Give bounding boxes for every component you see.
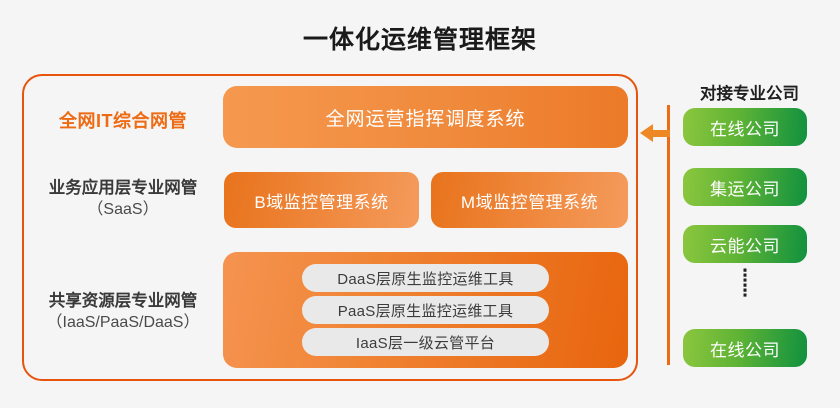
shared-resource-container: DaaS层原生监控运维工具 PaaS层原生监控运维工具 IaaS层一级云管平台	[223, 252, 628, 368]
row-label-main: 共享资源层专业网管	[28, 290, 218, 312]
box-m-domain-monitoring[interactable]: M域监控管理系统	[431, 172, 628, 228]
row-label-saas-layer: 业务应用层专业网管 （SaaS）	[28, 177, 218, 221]
banner-global-dispatch-system[interactable]: 全网运营指挥调度系统	[223, 86, 628, 148]
arrow-shaft	[652, 130, 670, 137]
partner-button-1[interactable]: 集运公司	[683, 168, 807, 206]
row-label-main: 全网IT综合网管	[28, 109, 218, 133]
row-label-sub: （SaaS）	[28, 199, 218, 221]
page-title: 一体化运维管理框架	[0, 20, 840, 56]
partner-button-3[interactable]: 在线公司	[683, 329, 807, 367]
pill-iaas-platform[interactable]: IaaS层一级云管平台	[302, 328, 549, 356]
partner-button-2[interactable]: 云能公司	[683, 225, 807, 263]
pill-paas-tool[interactable]: PaaS层原生监控运维工具	[302, 296, 549, 324]
partner-button-0[interactable]: 在线公司	[683, 108, 807, 146]
row-label-shared-resource-layer: 共享资源层专业网管 （IaaS/PaaS/DaaS）	[28, 290, 218, 334]
partners-title: 对接专业公司	[682, 80, 817, 104]
row-label-main: 业务应用层专业网管	[28, 177, 218, 199]
pill-daas-tool[interactable]: DaaS层原生监控运维工具	[302, 264, 549, 292]
row-label-sub: （IaaS/PaaS/DaaS）	[28, 312, 218, 334]
vertical-ellipsis-icon: ⋮ ⋮	[683, 268, 807, 298]
arrow-left-icon	[640, 124, 670, 142]
box-b-domain-monitoring[interactable]: B域监控管理系统	[224, 172, 419, 228]
connector-line	[667, 105, 670, 365]
ellipsis-glyph-bottom: ⋮	[683, 283, 807, 298]
row-label-it-management: 全网IT综合网管	[28, 109, 218, 133]
arrow-head	[640, 124, 653, 142]
